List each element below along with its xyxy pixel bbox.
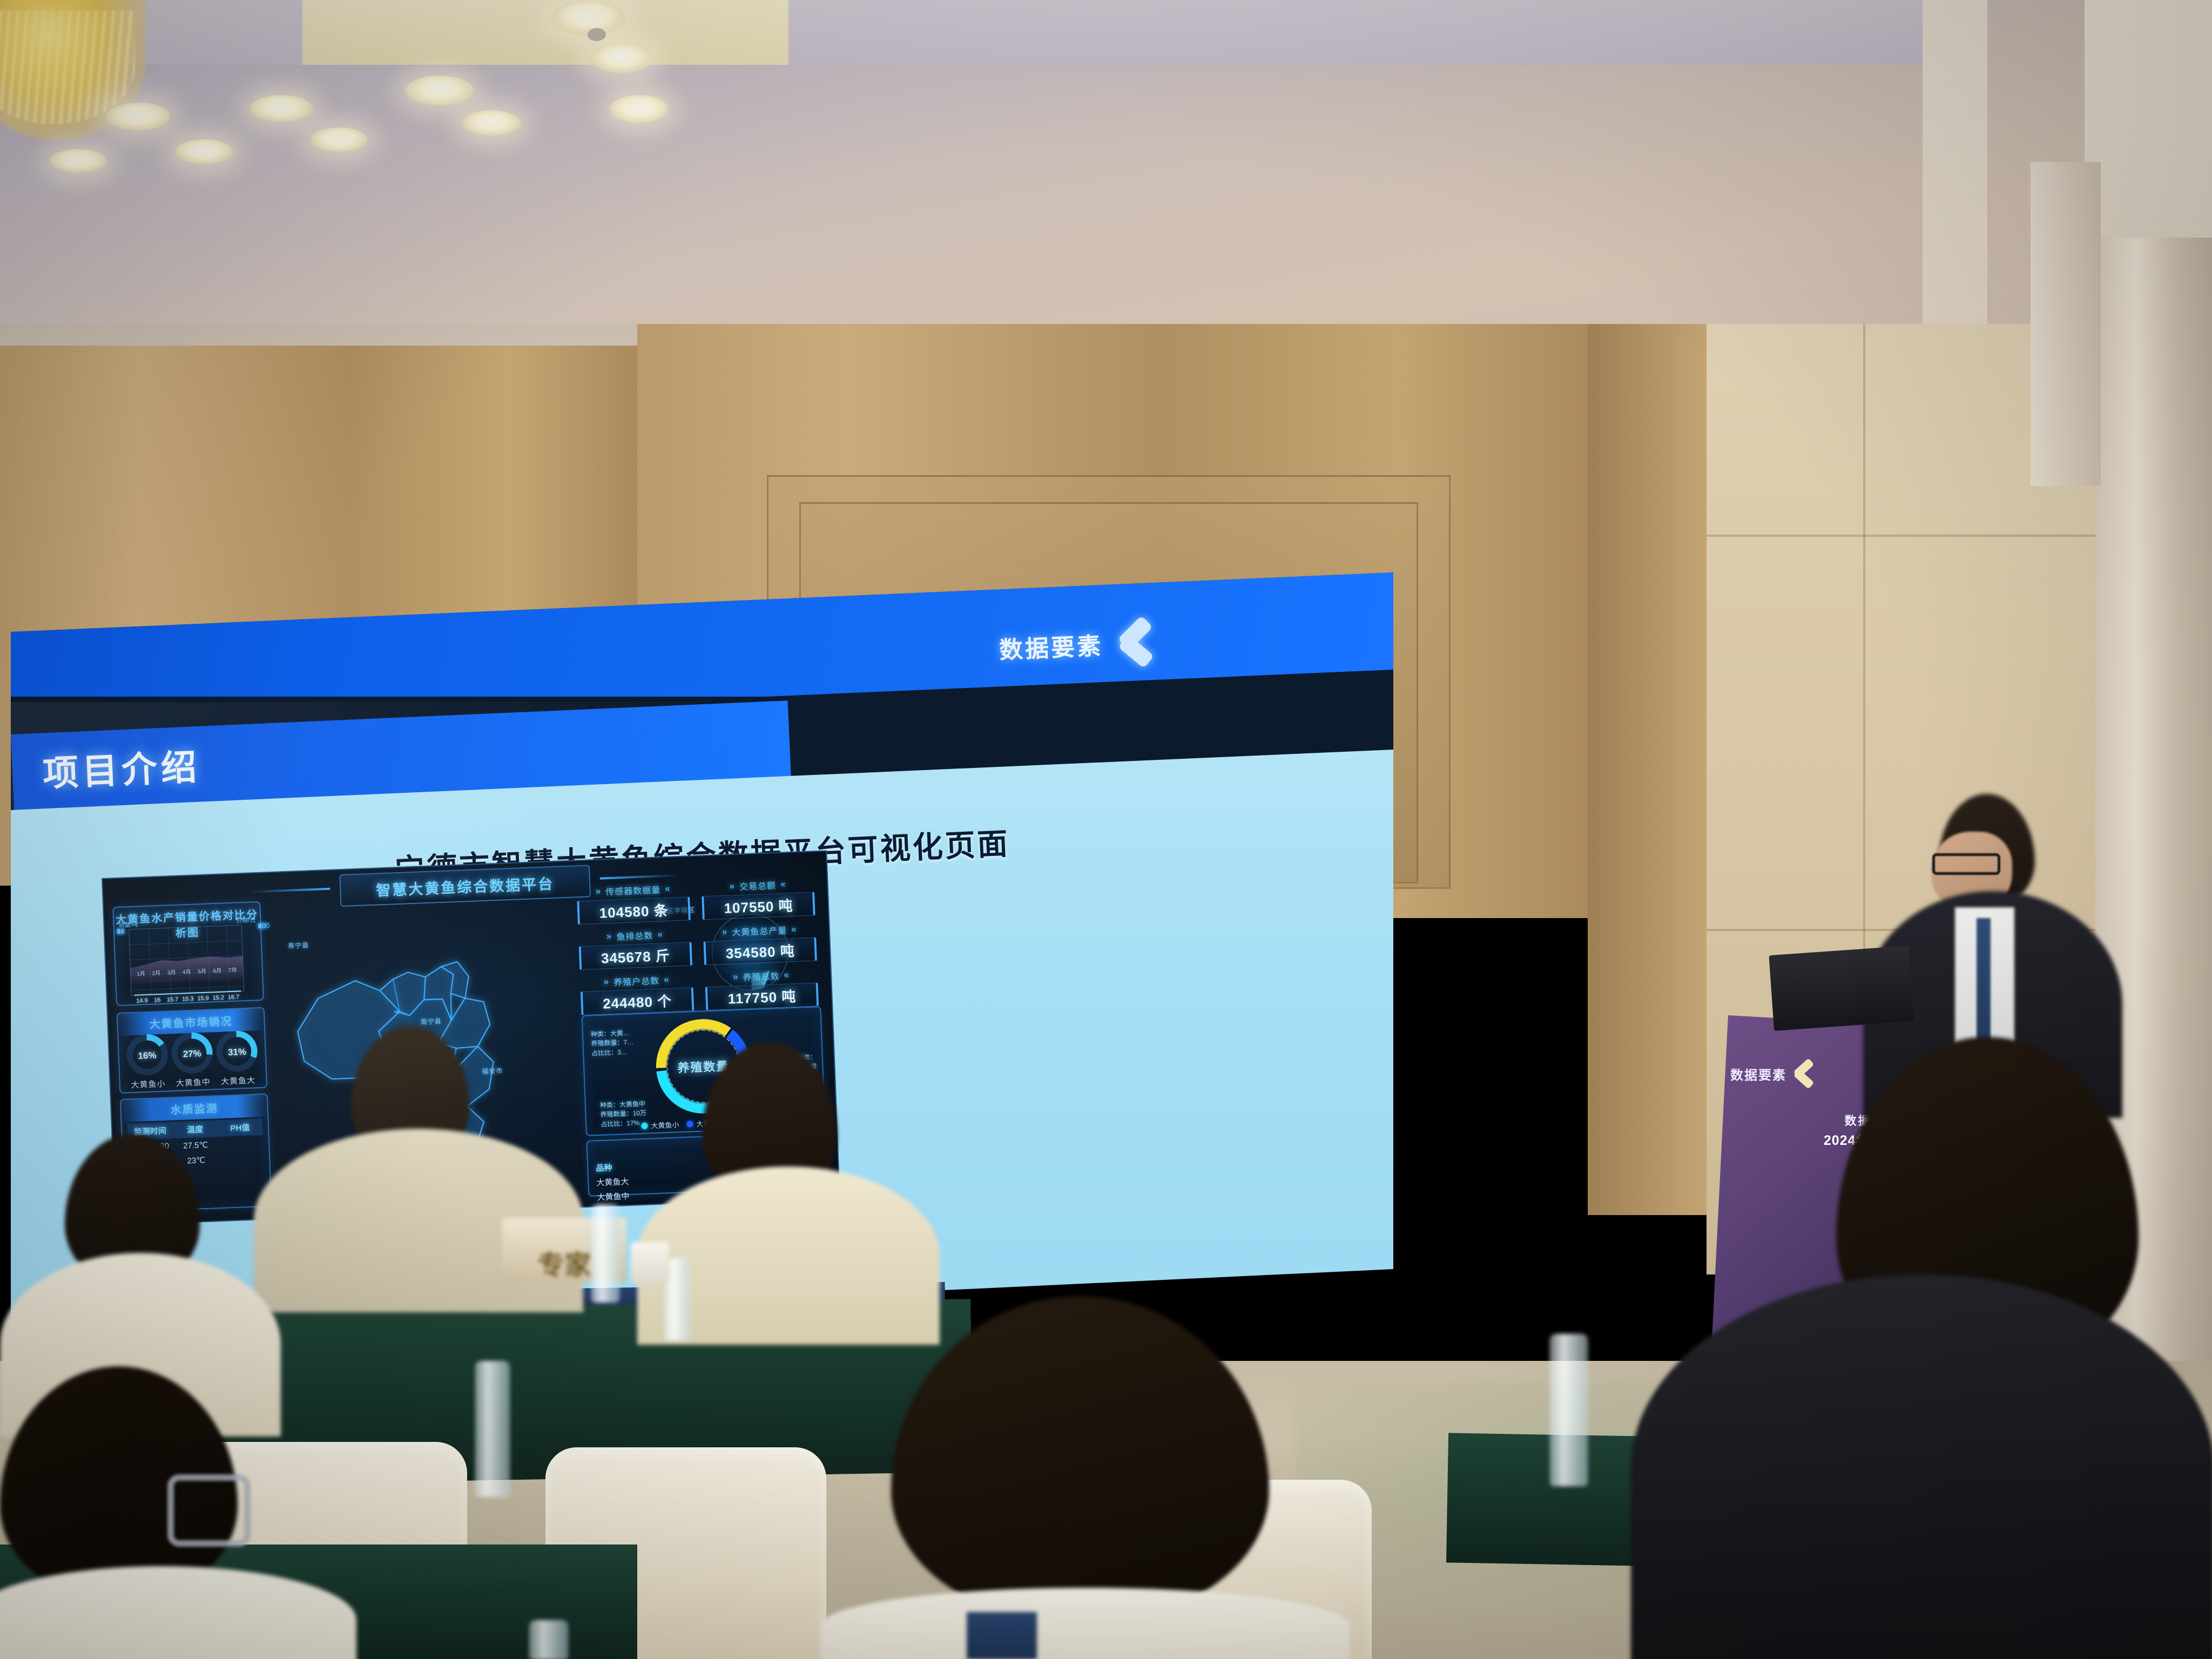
bar-value-label: 15.2 xyxy=(211,994,226,1001)
water-bottle-front xyxy=(475,1361,510,1497)
bar-chart-panel: 大黄鱼水产销量价格对比分析图 销量/吨 价格/元 14.91月162月15.73… xyxy=(112,901,264,1006)
audience-glasses xyxy=(167,1474,251,1547)
slide-title: 项目介绍 xyxy=(42,738,201,797)
table-cell: 27.5℃ xyxy=(173,1137,218,1154)
table-cell xyxy=(218,1135,263,1152)
stat-card: »养殖户总数«244480 个 xyxy=(580,972,694,1015)
wood-wall-right xyxy=(1588,324,1707,1215)
donut-note-line: 占比比：3… xyxy=(591,1047,634,1058)
bar: 15.3 xyxy=(180,993,195,994)
market-gauges: 16%大黄鱼小27%大黄鱼中31%大黄鱼大 xyxy=(124,1033,261,1087)
bar-chart-column: 15.34月 xyxy=(180,993,195,994)
market-gauge-panel: 大黄鱼市场销况 16%大黄鱼小27%大黄鱼中31%大黄鱼大 xyxy=(117,1007,268,1094)
bar-value-label: 15.3 xyxy=(180,996,195,1003)
ceiling-yellow-panel xyxy=(302,0,788,65)
stat-value-box: 345678 斤 xyxy=(579,942,693,970)
gauge-label: 大黄鱼大 xyxy=(215,1074,261,1087)
water-bottle-right xyxy=(1550,1334,1588,1486)
stat-value-box: 354580 吨 xyxy=(703,937,817,965)
downlight xyxy=(609,95,669,123)
table-column-header: 温度 xyxy=(172,1120,218,1138)
bar: 15.7 xyxy=(165,993,180,995)
downlight xyxy=(462,110,521,136)
stat-value: 354580 吨 xyxy=(725,940,795,962)
gauge-label: 大黄鱼中 xyxy=(171,1076,216,1089)
stat-card: »传感器数据量«104580 条 xyxy=(576,881,691,925)
stat-label-row: »交易总额« xyxy=(701,876,814,894)
legend-color-dot xyxy=(641,1122,648,1129)
bar-chart-column: 15.73月 xyxy=(165,993,180,995)
stat-label: 鱼排总数 xyxy=(616,928,653,943)
speaker-lanyard xyxy=(1977,918,1991,1053)
chevron-left-icon: « xyxy=(791,924,797,935)
bar: 15.2 xyxy=(211,991,226,993)
chevron-left-icon: « xyxy=(657,929,663,940)
chevron-left-icon: « xyxy=(780,879,786,889)
bar: 16 xyxy=(150,994,165,995)
water-quality-title: 水质监测 xyxy=(121,1095,267,1122)
table-cell xyxy=(219,1165,264,1182)
data-element-x-icon xyxy=(1114,621,1156,664)
downlight xyxy=(249,95,313,122)
bar-category-label: 2月 xyxy=(149,968,164,977)
legend-label: 大黄鱼小 xyxy=(651,1119,679,1130)
gauge-label: 大黄鱼小 xyxy=(125,1077,171,1090)
chevron-right-icon: » xyxy=(721,927,727,938)
downlight xyxy=(590,43,653,73)
table-column-header: PH值 xyxy=(217,1118,262,1137)
stat-label: 大黄鱼总产量 xyxy=(732,923,787,938)
stat-cards: »传感器数据量«104580 条»交易总额«107550 吨»鱼排总数«3456… xyxy=(576,876,819,1015)
bar-chart-column: 15.95月 xyxy=(195,992,211,993)
market-gauge: 31%大黄鱼大 xyxy=(214,1030,261,1087)
y-tick-right: 20 xyxy=(258,921,266,930)
bar-value-label: 15.7 xyxy=(165,996,180,1003)
bar-value-label: 14.9 xyxy=(134,997,150,1004)
bar-category-label: 6月 xyxy=(210,966,225,974)
bar-chart: 14.91月162月15.73月15.34月15.95月15.26月16.77月 xyxy=(129,925,245,996)
stat-card: »大黄鱼总产量«354580 吨 xyxy=(703,922,817,965)
downlight xyxy=(175,139,233,164)
gauge-value: 31% xyxy=(214,1046,260,1058)
gauge-value: 27% xyxy=(170,1048,215,1060)
speaker-glasses xyxy=(1932,853,2000,875)
stat-label: 交易总额 xyxy=(739,878,777,893)
stat-value: 117750 吨 xyxy=(727,985,797,1008)
stat-value-box: 107550 吨 xyxy=(702,892,815,920)
bar-category-label: 3月 xyxy=(164,968,179,976)
audience-lanyard xyxy=(967,1612,1037,1659)
chevron-left-icon: « xyxy=(784,969,790,980)
donut-note-line: 养殖数量：10万 xyxy=(600,1109,646,1120)
bar-chart-bars: 14.91月162月15.73月15.34月15.95月15.26月16.77月 xyxy=(129,925,245,996)
chevron-right-icon: » xyxy=(603,976,609,987)
map-label: 寿宁县 xyxy=(288,940,309,950)
market-gauge: 16%大黄鱼小 xyxy=(124,1033,171,1090)
audience-shoulders-front xyxy=(821,1588,1350,1659)
gauge-value: 16% xyxy=(124,1049,170,1062)
conference-room-photo: 数据要素 项目介绍 宁德市智慧大黄鱼综合数据平台可视化页面 智慧大黄鱼综合数据平… xyxy=(0,0,2212,1659)
bar-category-label: 5月 xyxy=(194,966,210,975)
donut-note-line: 养殖数量：7… xyxy=(591,1038,633,1049)
stat-card: »交易总额«107550 吨 xyxy=(701,876,815,920)
donut-legend-item: 大黄鱼小 xyxy=(641,1119,679,1131)
bar-chart-column: 14.91月 xyxy=(134,994,149,996)
audience-shoulders-right xyxy=(1631,1274,2212,1659)
stat-value: 107550 吨 xyxy=(724,894,793,917)
bar-category-label: 7月 xyxy=(225,965,240,974)
stat-value: 244480 个 xyxy=(602,990,672,1013)
map-label: 周宁县 xyxy=(420,1016,442,1026)
chevron-right-icon: » xyxy=(733,972,739,982)
laptop xyxy=(1769,946,1914,1031)
downlight xyxy=(311,127,368,152)
bar-value-label: 16.7 xyxy=(226,994,241,1001)
slide-brand: 数据要素 xyxy=(998,621,1156,669)
water-bottle-corner xyxy=(529,1620,568,1659)
bar-category-label: 1月 xyxy=(133,969,149,977)
map-label: 福安市 xyxy=(482,1066,503,1076)
right-column-edge xyxy=(2031,162,2101,486)
bar: 14.9 xyxy=(134,994,149,996)
podium-brand-text: 数据要素 xyxy=(1730,1064,1786,1083)
bar: 15.9 xyxy=(195,992,211,993)
bar-value-label: 15.9 xyxy=(195,995,211,1002)
downlight xyxy=(50,149,107,173)
stat-value: 345678 斤 xyxy=(601,945,670,967)
stat-label-row: »传感器数据量« xyxy=(576,881,690,899)
tea-cup xyxy=(631,1242,669,1284)
stat-label-row: »养殖总数« xyxy=(705,967,818,984)
bar-chart-unit-right: 价格/元 xyxy=(236,915,256,925)
chevron-left-icon: « xyxy=(665,884,671,894)
chevron-left-icon: « xyxy=(664,974,670,985)
stat-label: 养殖户总数 xyxy=(613,974,660,988)
stat-label: 养殖总数 xyxy=(743,969,780,983)
y-tick-left: 4 xyxy=(117,927,121,935)
chevron-right-icon: » xyxy=(595,886,601,897)
bar-chart-column: 15.26月 xyxy=(211,991,226,993)
table-cell xyxy=(218,1150,264,1167)
stat-label-row: »养殖户总数« xyxy=(580,972,693,989)
stat-label-row: »鱼排总数« xyxy=(578,927,692,944)
bar-chart-column: 16.77月 xyxy=(226,990,241,992)
market-gauge: 27%大黄鱼中 xyxy=(169,1031,216,1089)
stat-value: 104580 条 xyxy=(599,899,669,922)
legend-color-dot xyxy=(686,1121,693,1127)
bar-value-label: 16 xyxy=(150,997,165,1004)
chevron-right-icon: » xyxy=(606,931,612,942)
podium-x-icon xyxy=(1792,1062,1816,1085)
downlight xyxy=(106,103,171,131)
smoke-detector xyxy=(588,28,606,41)
stat-label: 传感器数据量 xyxy=(605,882,661,898)
podium-brand: 数据要素 xyxy=(1730,1062,1816,1085)
downlight xyxy=(405,76,474,106)
stat-label-row: »大黄鱼总产量« xyxy=(703,922,816,939)
chevron-right-icon: » xyxy=(729,881,735,892)
ceiling-soffit xyxy=(0,0,1923,65)
slide-brand-text: 数据要素 xyxy=(999,626,1104,665)
stat-value-box: 104580 条 xyxy=(577,896,691,925)
table-cell xyxy=(220,1180,265,1196)
bar-category-label: 4月 xyxy=(179,967,194,976)
dashboard-header-title: 智慧大黄鱼综合数据平台 xyxy=(376,872,555,900)
water-bottle xyxy=(591,1204,619,1303)
stat-card: »养殖总数«117750 吨 xyxy=(705,967,819,1010)
stat-card: »鱼排总数«345678 斤 xyxy=(578,927,693,970)
dashboard-header: 智慧大黄鱼综合数据平台 xyxy=(339,865,591,907)
donut-note-left: 种类：大黄…养殖数量：7…占比比：3… xyxy=(591,1028,635,1058)
downlight xyxy=(551,0,626,36)
bar-chart-column: 162月 xyxy=(150,994,165,995)
bar: 16.7 xyxy=(226,990,241,992)
